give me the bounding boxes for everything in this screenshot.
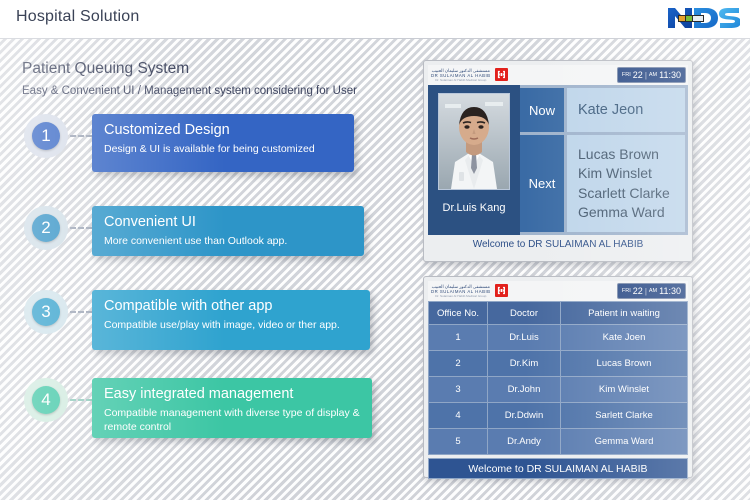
connector-line-1	[70, 135, 92, 137]
feature-desc-3: Compatible use/play with image, video or…	[104, 318, 358, 332]
clock-meridiem: AM	[649, 288, 657, 294]
next-patient-name: Kim Winslet	[578, 164, 685, 183]
left-heading-block: Patient Queuing System Easy & Convenient…	[22, 60, 422, 97]
feature-title-4: Easy integrated management	[104, 385, 360, 403]
table-panel-topbar: مستشفى الدكتور سليمان الحبيب DR SULAIMAN…	[428, 281, 688, 301]
signage-display-panel[interactable]: مستشفى الدكتور سليمان الحبيب DR SULAIMAN…	[423, 60, 693, 262]
clock-time: 11:30	[659, 286, 681, 296]
next-patient-name: Scarlett Clarke	[578, 184, 685, 203]
cell-patient: Kim Winslet	[561, 377, 688, 403]
feature-desc-4: Compatible management with diverse type …	[104, 406, 360, 434]
slide-root: Hospital Solution	[0, 0, 750, 500]
table-header-row: Office No. Doctor Patient in waiting	[429, 302, 688, 325]
doctor-photo	[438, 93, 510, 190]
connector-line-3	[70, 311, 92, 313]
clock-date: 22	[633, 286, 643, 296]
column-header-doctor: Doctor	[488, 302, 561, 325]
doctor-name: Dr.Luis Kang	[443, 202, 506, 214]
feature-number-1: 1	[32, 122, 60, 150]
queue-next-label: Next	[520, 135, 564, 232]
table-clock-badge: FRI 22 | AM 11:30	[617, 283, 686, 299]
cell-doctor: Dr.John	[488, 377, 561, 403]
cell-office: 2	[429, 351, 488, 377]
feature-desc-2: More convenient use than Outlook app.	[104, 234, 352, 248]
feature-item-4[interactable]: 4 Easy integrated management Compatible …	[24, 378, 354, 442]
clock-separator: |	[645, 287, 647, 296]
hospital-logo: مستشفى الدكتور سليمان الحبيب DR SULAIMAN…	[428, 68, 508, 82]
hospital-mark-icon	[495, 68, 508, 81]
feature-title-1: Customized Design	[104, 121, 342, 139]
patient-queue-table: Office No. Doctor Patient in waiting 1 D…	[428, 301, 688, 455]
feature-number-badge-4: 4	[24, 378, 68, 422]
feature-card-4[interactable]: Easy integrated management Compatible ma…	[92, 378, 372, 438]
cell-doctor: Dr.Ddwin	[488, 403, 561, 429]
feature-number-badge-3: 3	[24, 290, 68, 334]
feature-item-1[interactable]: 1 Customized Design Design & UI is avail…	[24, 114, 354, 178]
column-header-patient: Patient in waiting	[561, 302, 688, 325]
next-patient-name: Gemma Ward	[578, 203, 685, 222]
cell-patient: Kate Joen	[561, 325, 688, 351]
section-subtitle: Easy & Convenient UI / Management system…	[22, 85, 422, 97]
cell-doctor: Dr.Kim	[488, 351, 561, 377]
cell-doctor: Dr.Andy	[488, 429, 561, 455]
feature-number-badge-1: 1	[24, 114, 68, 158]
hospital-mark-icon	[495, 284, 508, 297]
feature-number-2: 2	[32, 214, 60, 242]
section-title: Patient Queuing System	[22, 60, 422, 78]
clock-day: FRI	[622, 288, 631, 294]
page-title: Hospital Solution	[16, 8, 139, 26]
clock-separator: |	[645, 71, 647, 80]
column-header-office: Office No.	[429, 302, 488, 325]
cell-office: 3	[429, 377, 488, 403]
queue-now-value: Kate Jeon	[567, 88, 685, 132]
queue-table-panel[interactable]: مستشفى الدكتور سليمان الحبيب DR SULAIMAN…	[423, 276, 693, 478]
feature-card-2[interactable]: Convenient UI More convenient use than O…	[92, 206, 364, 256]
cell-doctor: Dr.Luis	[488, 325, 561, 351]
hospital-logo: مستشفى الدكتور سليمان الحبيب DR SULAIMAN…	[428, 284, 508, 298]
display-clock-badge: FRI 22 | AM 11:30	[617, 67, 686, 83]
feature-number-3: 3	[32, 298, 60, 326]
feature-number-4: 4	[32, 386, 60, 414]
table-row[interactable]: 2 Dr.Kim Lucas Brown	[429, 351, 688, 377]
table-row[interactable]: 3 Dr.John Kim Winslet	[429, 377, 688, 403]
feature-item-3[interactable]: 3 Compatible with other app Compatible u…	[24, 290, 354, 354]
clock-date: 22	[633, 70, 643, 80]
table-row[interactable]: 1 Dr.Luis Kate Joen	[429, 325, 688, 351]
cell-patient: Lucas Brown	[561, 351, 688, 377]
cell-patient: Gemma Ward	[561, 429, 688, 455]
table-row[interactable]: 5 Dr.Andy Gemma Ward	[429, 429, 688, 455]
display-panel-topbar: مستشفى الدكتور سليمان الحبيب DR SULAIMAN…	[428, 65, 688, 85]
queue-list: Now Kate Jeon Next Lucas Brown Kim Winsl…	[520, 85, 688, 235]
feature-card-3[interactable]: Compatible with other app Compatible use…	[92, 290, 370, 350]
cell-patient: Sarlett Clarke	[561, 403, 688, 429]
feature-item-2[interactable]: 2 Convenient UI More convenient use than…	[24, 206, 354, 264]
next-patient-name: Lucas Brown	[578, 145, 685, 164]
now-patient-name: Kate Jeon	[578, 100, 685, 120]
cell-office: 1	[429, 325, 488, 351]
slide-body: Patient Queuing System Easy & Convenient…	[0, 38, 750, 500]
queue-display-area: Dr.Luis Kang Now Kate Jeon Next Lucas Br…	[428, 85, 688, 235]
feature-title-2: Convenient UI	[104, 213, 352, 231]
feature-title-3: Compatible with other app	[104, 297, 358, 315]
doctor-block: Dr.Luis Kang	[428, 85, 520, 235]
display-footer-message: Welcome to DR SULAIMAN AL HABIB	[428, 235, 688, 253]
queue-now-row: Now Kate Jeon	[520, 88, 685, 132]
table-row[interactable]: 4 Dr.Ddwin Sarlett Clarke	[429, 403, 688, 429]
table-footer-message: Welcome to DR SULAIMAN AL HABIB	[428, 458, 688, 479]
nds-logo-icon	[662, 4, 740, 32]
page-header: Hospital Solution	[0, 0, 750, 38]
clock-time: 11:30	[659, 70, 681, 80]
connector-line-2	[70, 227, 92, 229]
hospital-name-sub: Dr. Sulaiman Al Habib Medical Group	[431, 295, 491, 299]
clock-meridiem: AM	[649, 72, 657, 78]
connector-line-4	[70, 399, 92, 401]
queue-next-values: Lucas Brown Kim Winslet Scarlett Clarke …	[567, 135, 685, 232]
queue-now-label: Now	[520, 88, 564, 132]
cell-office: 4	[429, 403, 488, 429]
cell-office: 5	[429, 429, 488, 455]
queue-next-row: Next Lucas Brown Kim Winslet Scarlett Cl…	[520, 135, 685, 232]
feature-card-1[interactable]: Customized Design Design & UI is availab…	[92, 114, 354, 172]
feature-desc-1: Design & UI is available for being custo…	[104, 142, 342, 156]
clock-day: FRI	[622, 72, 631, 78]
feature-number-badge-2: 2	[24, 206, 68, 250]
hospital-name-sub: Dr. Sulaiman Al Habib Medical Group	[431, 79, 491, 83]
